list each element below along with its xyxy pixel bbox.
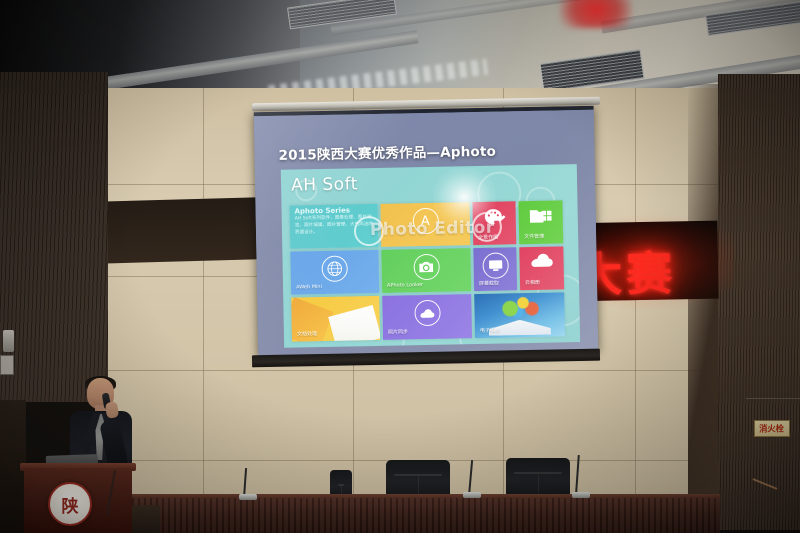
monitor-icon bbox=[482, 252, 508, 278]
tile-label: APhoto Looker bbox=[387, 282, 423, 289]
wall-dark-right bbox=[718, 74, 800, 530]
tile-title: Aphoto Series bbox=[295, 206, 351, 215]
color-splash-graphic bbox=[494, 295, 546, 318]
microphone-base bbox=[572, 492, 590, 498]
tile-label: 屏幕截取 bbox=[479, 280, 499, 287]
wall-seam bbox=[635, 88, 636, 528]
fire-hydrant-sign-label: 消火栓 bbox=[760, 423, 785, 435]
letter-a-icon: A bbox=[412, 208, 438, 234]
cloud-icon bbox=[414, 300, 440, 326]
tile-cloud-red[interactable]: 云相册 bbox=[519, 246, 564, 290]
slide: 2015陕西大赛优秀作品—Aphoto AH Soft Aphoto Serie… bbox=[254, 110, 599, 357]
folder-icon bbox=[529, 207, 553, 230]
wall-sensor bbox=[3, 330, 14, 352]
ceiling bbox=[0, 0, 800, 98]
circle-a-glyph: A bbox=[412, 208, 438, 234]
cloud-glyph bbox=[414, 300, 440, 326]
wall-seam bbox=[95, 370, 720, 371]
podium-emblem-character: 陕 bbox=[62, 492, 79, 517]
tile-aphoto-main[interactable]: A bbox=[380, 202, 470, 247]
tile-folder[interactable]: 文件管理 bbox=[518, 200, 563, 244]
tile-body-text: AH Soft系列软件，图像处理、图片浏览、照片编辑、图片管理、大气简洁的界面设… bbox=[295, 215, 374, 237]
tile-aweb-mini[interactable]: AWeb Mini bbox=[290, 250, 379, 295]
camera-glyph bbox=[413, 254, 439, 280]
tile-label: AWeb Mini bbox=[296, 284, 322, 290]
wall-plate bbox=[0, 355, 14, 375]
camera-icon bbox=[413, 254, 439, 280]
palette-icon bbox=[483, 208, 505, 231]
tile-grid: Aphoto Series AH Soft系列软件，图像处理、图片浏览、照片编辑… bbox=[289, 200, 576, 341]
monitor-glyph bbox=[482, 252, 508, 278]
wall-panel-line bbox=[746, 398, 800, 399]
wall-dark-left bbox=[0, 72, 108, 402]
projection-screen: 2015陕西大赛优秀作品—Aphoto AH Soft Aphoto Serie… bbox=[252, 100, 600, 365]
tile-book-photo[interactable]: 电子相册 bbox=[474, 292, 565, 338]
globe-icon bbox=[321, 256, 347, 282]
tile-palette[interactable]: 全景作图 bbox=[472, 201, 516, 245]
tile-label: 文档处理 bbox=[297, 330, 317, 337]
tile-aphoto-looker[interactable]: APhoto Looker bbox=[381, 248, 471, 293]
app-start-screen: AH Soft Aphoto Series AH Soft系列软件，图像处理、图… bbox=[281, 164, 580, 348]
tile-label: 全景作图 bbox=[478, 234, 498, 241]
stage-table bbox=[108, 498, 720, 533]
tile-label: 云相册 bbox=[525, 279, 540, 286]
red-ceiling-light bbox=[560, 0, 632, 28]
speaker-hand bbox=[105, 401, 119, 419]
podium-emblem: 陕 bbox=[48, 482, 92, 526]
presentation-room-photo: 消火栓 大赛 2015陕西大赛优秀作品—Aphoto AH Soft bbox=[0, 0, 800, 533]
tile-paper-yellow[interactable]: 文档处理 bbox=[291, 296, 380, 342]
tile-aphoto-series[interactable]: Aphoto Series AH Soft系列软件，图像处理、图片浏览、照片编辑… bbox=[289, 204, 378, 249]
tile-cloud-purple[interactable]: 照片同步 bbox=[382, 294, 472, 340]
paper-shape bbox=[328, 305, 380, 342]
microphone-base bbox=[239, 494, 257, 500]
wall-seam bbox=[203, 88, 204, 528]
cloud-icon bbox=[528, 252, 554, 274]
tile-monitor[interactable]: 屏幕截取 bbox=[473, 247, 517, 291]
globe-glyph bbox=[321, 256, 347, 282]
microphone-base bbox=[463, 492, 481, 498]
tile-label: 照片同步 bbox=[388, 328, 408, 335]
screen-surface: 2015陕西大赛优秀作品—Aphoto AH Soft Aphoto Serie… bbox=[254, 106, 599, 357]
tile-label: 文件管理 bbox=[524, 233, 544, 240]
tile-label: 电子相册 bbox=[480, 327, 500, 334]
app-name-heading: AH Soft bbox=[291, 174, 358, 195]
slide-title: 2015陕西大赛优秀作品—Aphoto bbox=[278, 140, 496, 164]
fire-hydrant-sign: 消火栓 bbox=[754, 420, 790, 437]
